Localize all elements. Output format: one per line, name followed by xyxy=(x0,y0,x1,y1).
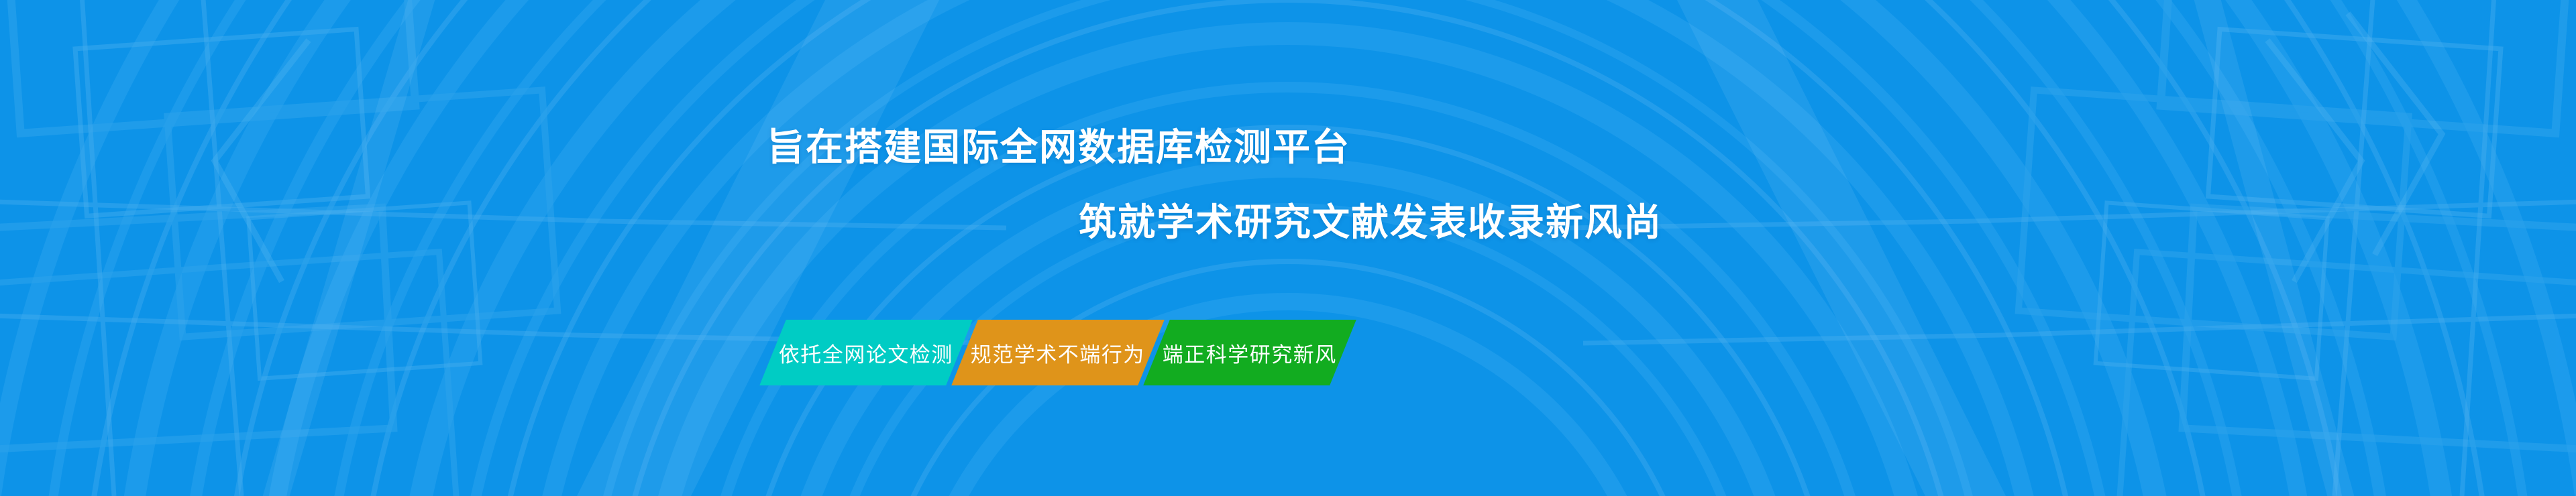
feature-badge-misconduct[interactable]: 规范学术不端行为 xyxy=(951,320,1165,385)
headline-line-2: 筑就学术研究文献发表收录新风尚 xyxy=(1079,201,1662,244)
feature-badge-research-ethos[interactable]: 端正科学研究新风 xyxy=(1143,320,1356,385)
promo-banner: 旨在搭建国际全网数据库检测平台 筑就学术研究文献发表收录新风尚 依托全网论文检测… xyxy=(0,0,2576,496)
feature-badge-detection-label: 依托全网论文检测 xyxy=(756,338,976,368)
feature-badge-research-ethos-label: 端正科学研究新风 xyxy=(1140,338,1360,368)
headline-line-1: 旨在搭建国际全网数据库检测平台 xyxy=(767,126,1350,169)
feature-badge-strip: 依托全网论文检测 规范学术不端行为 端正科学研究新风 xyxy=(773,320,1343,385)
feature-badge-misconduct-label: 规范学术不端行为 xyxy=(948,338,1168,368)
feature-badge-detection[interactable]: 依托全网论文检测 xyxy=(759,320,973,385)
banner-content: 旨在搭建国际全网数据库检测平台 筑就学术研究文献发表收录新风尚 依托全网论文检测… xyxy=(0,0,2576,496)
